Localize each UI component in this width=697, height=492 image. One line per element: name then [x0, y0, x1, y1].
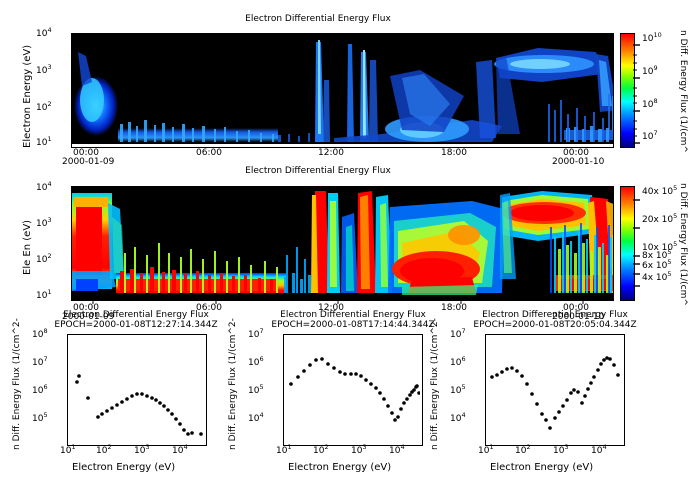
bottom-1-xtick-1: 101	[60, 446, 76, 456]
bottom-3-scatter	[486, 335, 622, 443]
bottom-3-plot[interactable]	[485, 334, 625, 446]
bottom-3-ytick-6: 106	[450, 358, 466, 368]
middle-colorbar-label: n Diff. Energy Flux (1/(cm^	[678, 183, 688, 306]
middle-cbar-tick-40: 40x 105	[642, 187, 677, 197]
bottom-3-title: Electron Differential Energy Flux	[455, 310, 655, 320]
top-xdate-right: 2000-01-10	[552, 157, 604, 167]
top-panel-title: Electron Differential Energy Flux	[188, 14, 448, 24]
bottom-1-xlabel: Electron Energy (eV)	[72, 462, 175, 473]
top-ytick-1: 101	[36, 138, 52, 148]
bottom-3-ylabel: n Diff. Energy Flux (1/(cm^2-	[430, 318, 440, 450]
top-spectrogram-image	[72, 34, 613, 147]
bottom-3-xtick-4: 104	[591, 446, 607, 456]
bottom-1-scatter	[68, 335, 204, 443]
bottom-1-ytick-5: 105	[32, 414, 48, 424]
bottom-1-plot[interactable]	[67, 334, 207, 446]
bottom-2-xlabel: Electron Energy (eV)	[288, 462, 391, 473]
bottom-2-ytick-6: 106	[248, 358, 264, 368]
top-cbar-tick-10e7: 107	[642, 132, 658, 142]
bottom-1-xtick-3: 103	[134, 446, 150, 456]
bottom-2-title: Electron Differential Energy Flux	[253, 310, 453, 320]
bottom-2-plot[interactable]	[283, 334, 423, 446]
top-ytick-2: 102	[36, 103, 52, 113]
top-xtick-2: 06:00	[196, 148, 222, 158]
top-xtick-4: 18:00	[441, 148, 467, 158]
bottom-2-xtick-4: 104	[389, 446, 405, 456]
middle-spectrogram-image	[72, 187, 613, 300]
bottom-1-xtick-4: 104	[172, 446, 188, 456]
middle-colorbar-ticks	[633, 186, 640, 299]
bottom-2-ylabel: n Diff. Energy Flux (1/(cm^2-	[228, 318, 238, 450]
top-xdate-left: 2000-01-09	[62, 157, 114, 167]
bottom-2-xtick-3: 103	[351, 446, 367, 456]
bottom-3-ytick-7: 107	[450, 330, 466, 340]
bottom-3-subtitle: EPOCH=2000-01-08T20:05:04.344Z	[443, 320, 667, 330]
bottom-1-xtick-2: 102	[96, 446, 112, 456]
figure-root: Electron Differential Energy Flux Electr…	[0, 0, 697, 492]
bottom-3-xtick-3: 103	[553, 446, 569, 456]
bottom-3-xtick-2: 102	[515, 446, 531, 456]
bottom-3-ytick-5: 105	[450, 386, 466, 396]
middle-cbar-tick-20: 20x 105	[642, 215, 677, 225]
top-colorbar-ticks	[633, 33, 640, 146]
bottom-2-ytick-5: 105	[248, 386, 264, 396]
top-cbar-tick-10e10: 1010	[642, 34, 662, 44]
bottom-1-ytick-6: 106	[32, 386, 48, 396]
bottom-1-title: Electron Differential Energy Flux	[36, 310, 236, 320]
middle-ytick-1: 101	[36, 291, 52, 301]
bottom-1-ylabel: n Diff. Energy Flux (1/(cm^2-	[12, 318, 22, 450]
top-panel-ylabel: Electron Energy (eV)	[22, 45, 33, 148]
bottom-3-xtick-1: 101	[478, 446, 494, 456]
bottom-2-xtick-1: 101	[276, 446, 292, 456]
bottom-3-xlabel: Electron Energy (eV)	[490, 462, 593, 473]
bottom-3-ytick-4: 104	[450, 414, 466, 424]
bottom-1-ytick-7: 107	[32, 358, 48, 368]
bottom-1-ytick-8: 108	[32, 330, 48, 340]
middle-ytick-3: 103	[36, 219, 52, 229]
top-xtick-3: 12:00	[318, 148, 344, 158]
top-cbar-tick-10e8: 108	[642, 100, 658, 110]
bottom-2-ytick-7: 107	[248, 330, 264, 340]
middle-panel-ylabel: Ele En (eV)	[22, 220, 33, 275]
bottom-1-subtitle: EPOCH=2000-01-08T12:27:14.344Z	[24, 320, 248, 330]
middle-panel-title: Electron Differential Energy Flux	[188, 166, 448, 176]
middle-ytick-2: 102	[36, 255, 52, 265]
bottom-2-scatter	[284, 335, 420, 443]
middle-cbar-tick-4: 4x 105	[642, 273, 672, 283]
middle-spectrogram[interactable]	[71, 186, 614, 301]
bottom-2-xtick-2: 102	[313, 446, 329, 456]
top-cbar-tick-10e9: 109	[642, 67, 658, 77]
top-ytick-3: 103	[36, 66, 52, 76]
middle-ytick-4: 104	[36, 183, 52, 193]
top-ytick-4: 104	[36, 29, 52, 39]
top-colorbar-label: n Diff. Energy Flux (1/(cm^	[678, 30, 688, 153]
top-spectrogram[interactable]	[71, 33, 614, 148]
bottom-2-ytick-4: 104	[248, 414, 264, 424]
